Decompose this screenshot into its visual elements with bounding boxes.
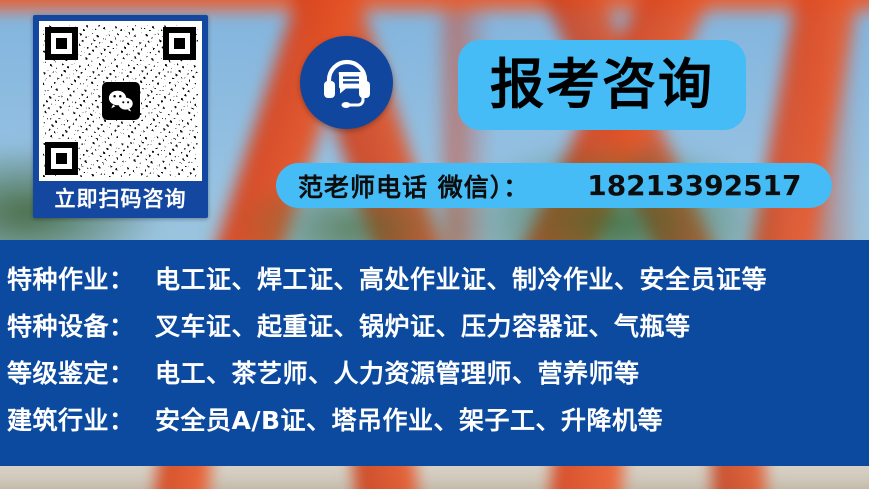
contact-phone-number[interactable]: 18213392517 — [587, 169, 801, 202]
headset-chat-icon — [300, 36, 393, 129]
contact-label: 范老师电话 微信）： — [298, 168, 529, 204]
qr-code-card[interactable]: 立即扫码咨询 — [33, 15, 208, 218]
qr-finder-bottom-left — [45, 142, 78, 175]
bottom-photo-strip — [0, 466, 869, 489]
category-label: 特种作业： — [7, 260, 155, 296]
wechat-icon — [102, 82, 140, 120]
category-value: 电工证、焊工证、高处作业证、制冷作业、安全员证等 — [155, 260, 767, 296]
promo-poster: 立即扫码咨询 报考咨询 范老师电话 微信）： 18213392517 特种作业： — [0, 0, 869, 489]
certificate-categories-panel: 特种作业： 电工证、焊工证、高处作业证、制冷作业、安全员证等 特种设备： 叉车证… — [0, 240, 869, 466]
category-label: 建筑行业： — [7, 401, 155, 437]
category-value: 电工、茶艺师、人力资源管理师、营养师等 — [155, 354, 640, 390]
title-pill: 报考咨询 — [458, 40, 746, 130]
category-row-special-operations: 特种作业： 电工证、焊工证、高处作业证、制冷作业、安全员证等 — [0, 260, 869, 307]
contact-phone-pill[interactable]: 范老师电话 微信）： 18213392517 — [276, 163, 832, 208]
category-value: 安全员A/B证、塔吊作业、架子工、升降机等 — [155, 401, 663, 437]
category-row-special-equipment: 特种设备： 叉车证、起重证、锅炉证、压力容器证、气瓶等 — [0, 307, 869, 354]
category-label: 等级鉴定： — [7, 354, 155, 390]
category-row-grade-assessment: 等级鉴定： 电工、茶艺师、人力资源管理师、营养师等 — [0, 354, 869, 401]
category-value: 叉车证、起重证、锅炉证、压力容器证、气瓶等 — [155, 307, 691, 343]
qr-card-caption: 立即扫码咨询 — [36, 181, 205, 215]
qr-finder-top-right — [163, 27, 196, 60]
qr-code-image[interactable] — [39, 21, 202, 181]
category-row-construction-industry: 建筑行业： 安全员A/B证、塔吊作业、架子工、升降机等 — [0, 401, 869, 448]
qr-finder-top-left — [45, 27, 78, 60]
page-title: 报考咨询 — [490, 58, 714, 112]
category-label: 特种设备： — [7, 307, 155, 343]
